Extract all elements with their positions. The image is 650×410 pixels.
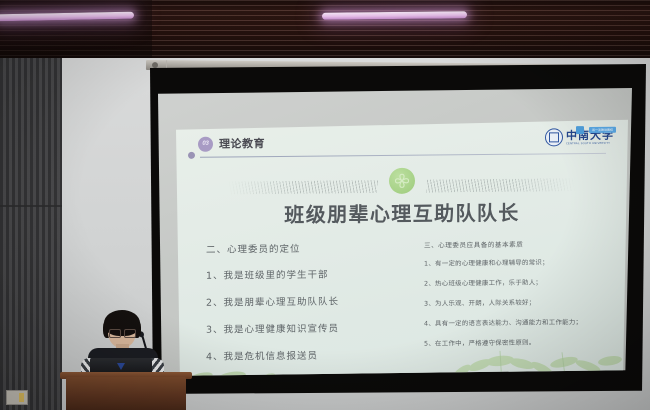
left-column-item: 3、我是心理健康知识宣传员 [206, 320, 406, 336]
right-column-heading: 三、心理委员应具备的基本素质 [424, 238, 620, 250]
section-number-badge: 03 [198, 136, 213, 151]
presentation-slide: 03 理论教育 双一流建设高校 中南大学 CENTRAL SOUTH UNIVE… [176, 120, 628, 388]
left-column-heading: 二、心理委员的定位 [206, 240, 406, 256]
screen-surface: 03 理论教育 双一流建设高校 中南大学 CENTRAL SOUTH UNIVE… [158, 88, 632, 376]
podium [66, 377, 186, 410]
university-seal-icon [545, 128, 563, 146]
slide-main-title: 班级朋辈心理互助队队长 [176, 196, 628, 229]
logo-badge-square-icon [576, 126, 584, 134]
wave-ornament-left [228, 180, 378, 194]
slide-header-title: 理论教育 [219, 135, 265, 151]
right-column-item: 2、热心班级心理健康工作，乐于助人； [424, 277, 620, 288]
photo-scene: 03 理论教育 双一流建设高校 中南大学 CENTRAL SOUTH UNIVE… [0, 0, 650, 410]
wave-ornament-right [426, 178, 576, 192]
right-column-item: 1、有一定的心理健康和心理辅导的常识； [424, 257, 620, 268]
slide-right-column: 三、心理委员应具备的基本素质 1、有一定的心理健康和心理辅导的常识； 2、热心班… [424, 238, 620, 359]
logo-tagline: 双一流建设高校 [589, 126, 616, 132]
clover-icon [389, 168, 415, 194]
right-column-item: 3、为人乐观、开朗，人际关系较好； [424, 297, 620, 308]
header-accent-dot [188, 152, 195, 159]
ceiling [0, 0, 650, 62]
right-column-item: 4、具有一定的语言表达能力、沟通能力和工作能力； [424, 317, 620, 328]
slide-header: 03 理论教育 [198, 135, 265, 152]
wall-switch-plate[interactable] [6, 390, 28, 405]
header-divider [200, 153, 606, 158]
glasses-icon [109, 329, 136, 336]
projection-screen: 03 理论教育 双一流建设高校 中南大学 CENTRAL SOUTH UNIVE… [150, 64, 646, 394]
left-column-item: 2、我是朋辈心理互助队队长 [206, 293, 406, 309]
left-wall-slats [0, 58, 62, 410]
ceiling-shadow-left [0, 0, 152, 62]
left-wall-seam [0, 205, 62, 207]
laptop-logo-icon [117, 363, 125, 370]
left-column-item: 1、我是班级里的学生干部 [206, 266, 406, 282]
university-logo: 双一流建设高校 中南大学 CENTRAL SOUTH UNIVERSITY [545, 128, 614, 147]
university-name-en: CENTRAL SOUTH UNIVERSITY [566, 141, 614, 144]
